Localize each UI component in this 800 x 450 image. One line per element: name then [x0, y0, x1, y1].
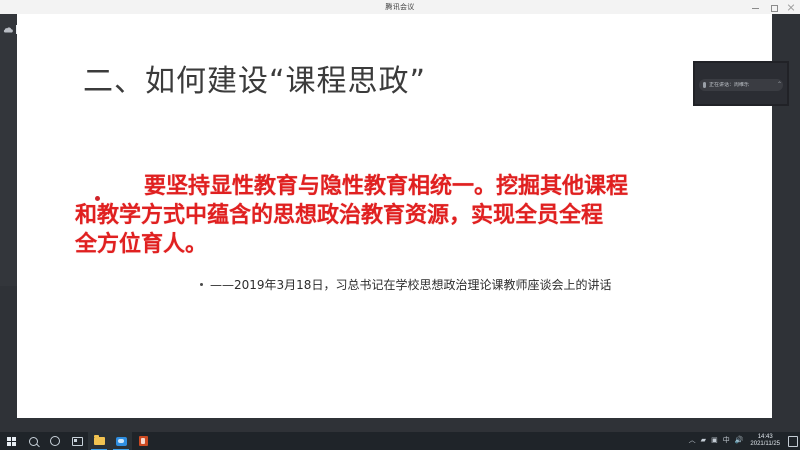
body-line-3: 全方位育人。 [72, 230, 752, 259]
windows-taskbar: ︿ ▰ ▣ 中 🔊 14:43 2021/11/25 [0, 432, 800, 450]
window-title: 腾讯会议 [385, 2, 414, 12]
window-titlebar[interactable]: 腾讯会议 [0, 0, 800, 14]
display-icon[interactable]: ▣ [711, 437, 718, 445]
clock-time: 14:43 [758, 434, 773, 441]
close-button[interactable] [787, 3, 796, 12]
start-button[interactable] [0, 432, 22, 450]
microphone-icon [703, 82, 706, 88]
windows-logo-icon [7, 437, 16, 446]
network-icon[interactable]: ▰ [701, 437, 706, 445]
search-button[interactable] [22, 432, 44, 450]
video-thumbnail-panel[interactable]: 正在讲话：周维乐 ⌃ [693, 61, 789, 106]
slide-title: 二、如何建设“课程思政” [83, 56, 426, 100]
video-tile[interactable]: 正在讲话：周维乐 ⌃ [695, 63, 787, 104]
shared-screen-area: 分享 二、如何建设“课程思政” 要坚持显性教育与隐性教育相统一。挖掘其他课程 和… [0, 14, 800, 432]
powerpoint-button[interactable] [132, 432, 154, 450]
cloud-icon [3, 27, 13, 33]
presentation-slide: 二、如何建设“课程思政” 要坚持显性教育与隐性教育相统一。挖掘其他课程 和教学方… [17, 14, 772, 418]
attribution-bullet-marker [200, 283, 203, 286]
input-method-icon[interactable]: 中 [723, 437, 730, 445]
task-view-icon [72, 437, 83, 446]
maximize-button[interactable] [769, 3, 778, 12]
slide-body-block: 要坚持显性教育与隐性教育相统一。挖掘其他课程 和教学方式中蕴含的思想政治教育资源… [72, 172, 752, 259]
body-line-2: 和教学方式中蕴含的思想政治教育资源，实现全员全程 [72, 201, 752, 230]
cortana-button[interactable] [44, 432, 66, 450]
chevron-up-icon[interactable]: ⌃ [777, 82, 782, 88]
task-view-button[interactable] [66, 432, 88, 450]
active-speaker-bar: 正在讲话：周维乐 [699, 79, 783, 91]
show-hidden-icons-button[interactable]: ︿ [689, 437, 696, 445]
notification-center-icon[interactable] [788, 436, 798, 447]
body-line-1: 要坚持显性教育与隐性教育相统一。挖掘其他课程 [72, 172, 752, 201]
system-tray: ︿ ▰ ▣ 中 🔊 14:43 2021/11/25 [689, 432, 798, 450]
cortana-circle-icon [50, 436, 60, 446]
search-icon [29, 437, 38, 446]
slide-attribution: ——2019年3月18日，习总书记在学校思想政治理论课教师座谈会上的讲话 [210, 276, 611, 293]
clock-date: 2021/11/25 [750, 441, 780, 448]
body-bullet-marker [95, 196, 100, 201]
taskbar-clock[interactable]: 14:43 2021/11/25 [750, 434, 780, 448]
bottom-background-strip [0, 418, 772, 432]
file-explorer-button[interactable] [88, 432, 110, 450]
active-speaker-name: 正在讲话：周维乐 [709, 82, 749, 88]
slide-attribution-row: ——2019年3月18日，习总书记在学校思想政治理论课教师座谈会上的讲话 [200, 276, 611, 293]
powerpoint-icon [139, 436, 148, 446]
meeting-app-button[interactable] [110, 432, 132, 450]
screen: 腾讯会议 分享 二、如何建设“课程思政” 要坚持显性教育与隐性 [0, 0, 800, 450]
window-controls [751, 0, 796, 14]
volume-icon[interactable]: 🔊 [735, 437, 744, 445]
slide-body-text: 要坚持显性教育与隐性教育相统一。挖掘其他课程 和教学方式中蕴含的思想政治教育资源… [72, 172, 752, 259]
app-left-rail [0, 14, 17, 286]
minimize-button[interactable] [751, 3, 760, 12]
taskbar-items [0, 432, 154, 450]
meeting-app-icon [116, 437, 127, 446]
folder-icon [94, 437, 105, 445]
